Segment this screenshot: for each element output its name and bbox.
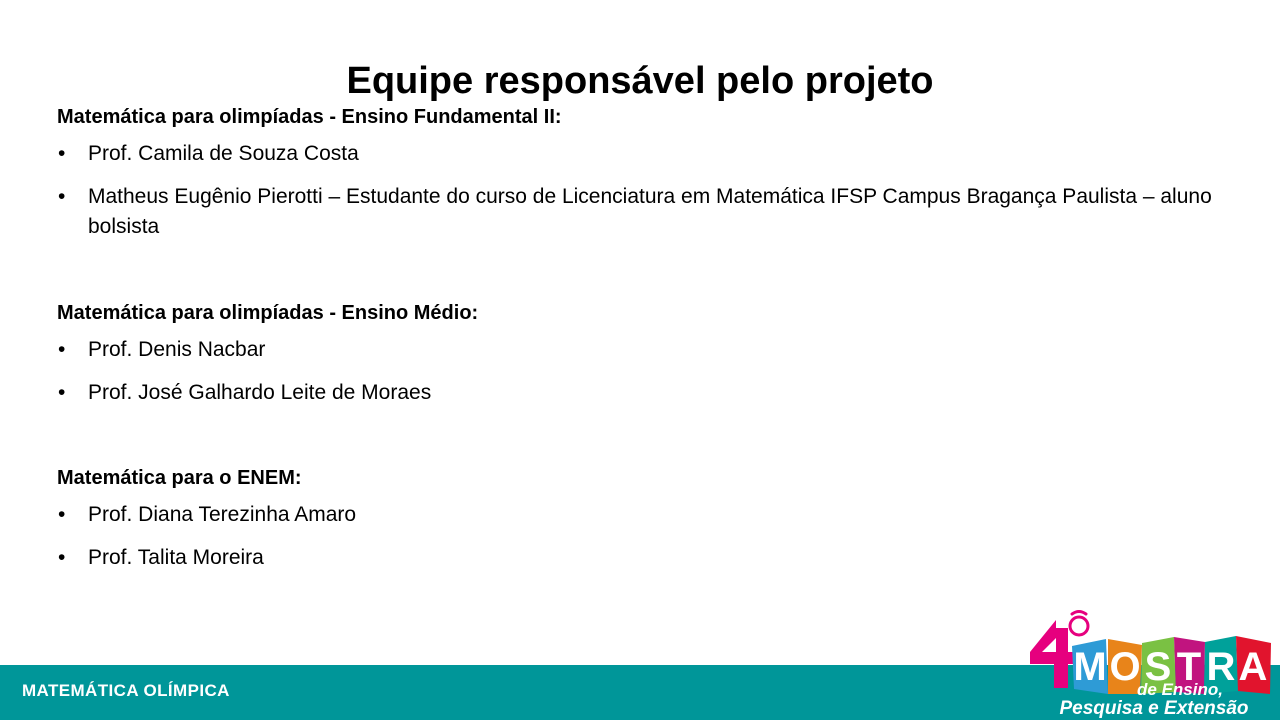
logo-letter-M-icon: M [1072,639,1108,694]
section-heading: Matemática para olimpíadas - Ensino Médi… [57,300,1217,327]
logo-edition-number-icon [1030,620,1076,688]
svg-text:M: M [1073,645,1106,689]
section-heading: Matemática para olimpíadas - Ensino Fund… [57,104,1217,131]
bullet-list: • Prof. Diana Terezinha Amaro • Prof. Ta… [57,500,1217,573]
list-item-text: Prof. Talita Moreira [88,546,264,569]
svg-text:O: O [1109,645,1140,689]
slide-canvas: Equipe responsável pelo projeto Matemáti… [0,0,1280,720]
page-title: Equipe responsável pelo projeto [0,61,1280,103]
logo-tagline-line-1: de Ensino, [1137,680,1223,699]
list-item: • Prof. Diana Terezinha Amaro [57,500,1217,530]
bullet-icon: • [58,543,65,573]
event-logo: M O S T R A de Ensino, [1028,606,1280,720]
section-enem: Matemática para o ENEM: • Prof. Diana Te… [57,465,1217,573]
section-heading: Matemática para o ENEM: [57,465,1217,492]
section-spacer [57,421,1217,465]
bullet-icon: • [58,182,65,212]
list-item-text: Prof. Denis Nacbar [88,338,265,361]
slide-body-content: Matemática para olimpíadas - Ensino Fund… [57,104,1217,586]
list-item: • Matheus Eugênio Pierotti – Estudante d… [57,182,1217,242]
list-item-text: Matheus Eugênio Pierotti – Estudante do … [88,185,1212,238]
bullet-icon: • [58,378,65,408]
list-item-text: Prof. José Galhardo Leite de Moraes [88,381,431,404]
logo-tagline-line-2: Pesquisa e Extensão [1059,698,1248,719]
section-spacer [57,254,1217,300]
section-fundamental-ii: Matemática para olimpíadas - Ensino Fund… [57,104,1217,241]
list-item: • Prof. Denis Nacbar [57,335,1217,365]
svg-text:A: A [1239,645,1268,689]
bullet-icon: • [58,500,65,530]
list-item: • Prof. Talita Moreira [57,543,1217,573]
list-item: • Prof. José Galhardo Leite de Moraes [57,378,1217,408]
section-ensino-medio: Matemática para olimpíadas - Ensino Médi… [57,300,1217,408]
bullet-icon: • [58,335,65,365]
list-item: • Prof. Camila de Souza Costa [57,139,1217,169]
logo-letter-A-icon: A [1236,636,1271,694]
list-item-text: Prof. Diana Terezinha Amaro [88,503,356,526]
bullet-icon: • [58,139,65,169]
logo-ordinal-icon [1070,612,1088,636]
list-item-text: Prof. Camila de Souza Costa [88,142,359,165]
footer-label: MATEMÁTICA OLÍMPICA [22,681,230,701]
logo-artwork: M O S T R A de Ensino, [1028,606,1280,720]
bullet-list: • Prof. Denis Nacbar • Prof. José Galhar… [57,335,1217,408]
bullet-list: • Prof. Camila de Souza Costa • Matheus … [57,139,1217,241]
